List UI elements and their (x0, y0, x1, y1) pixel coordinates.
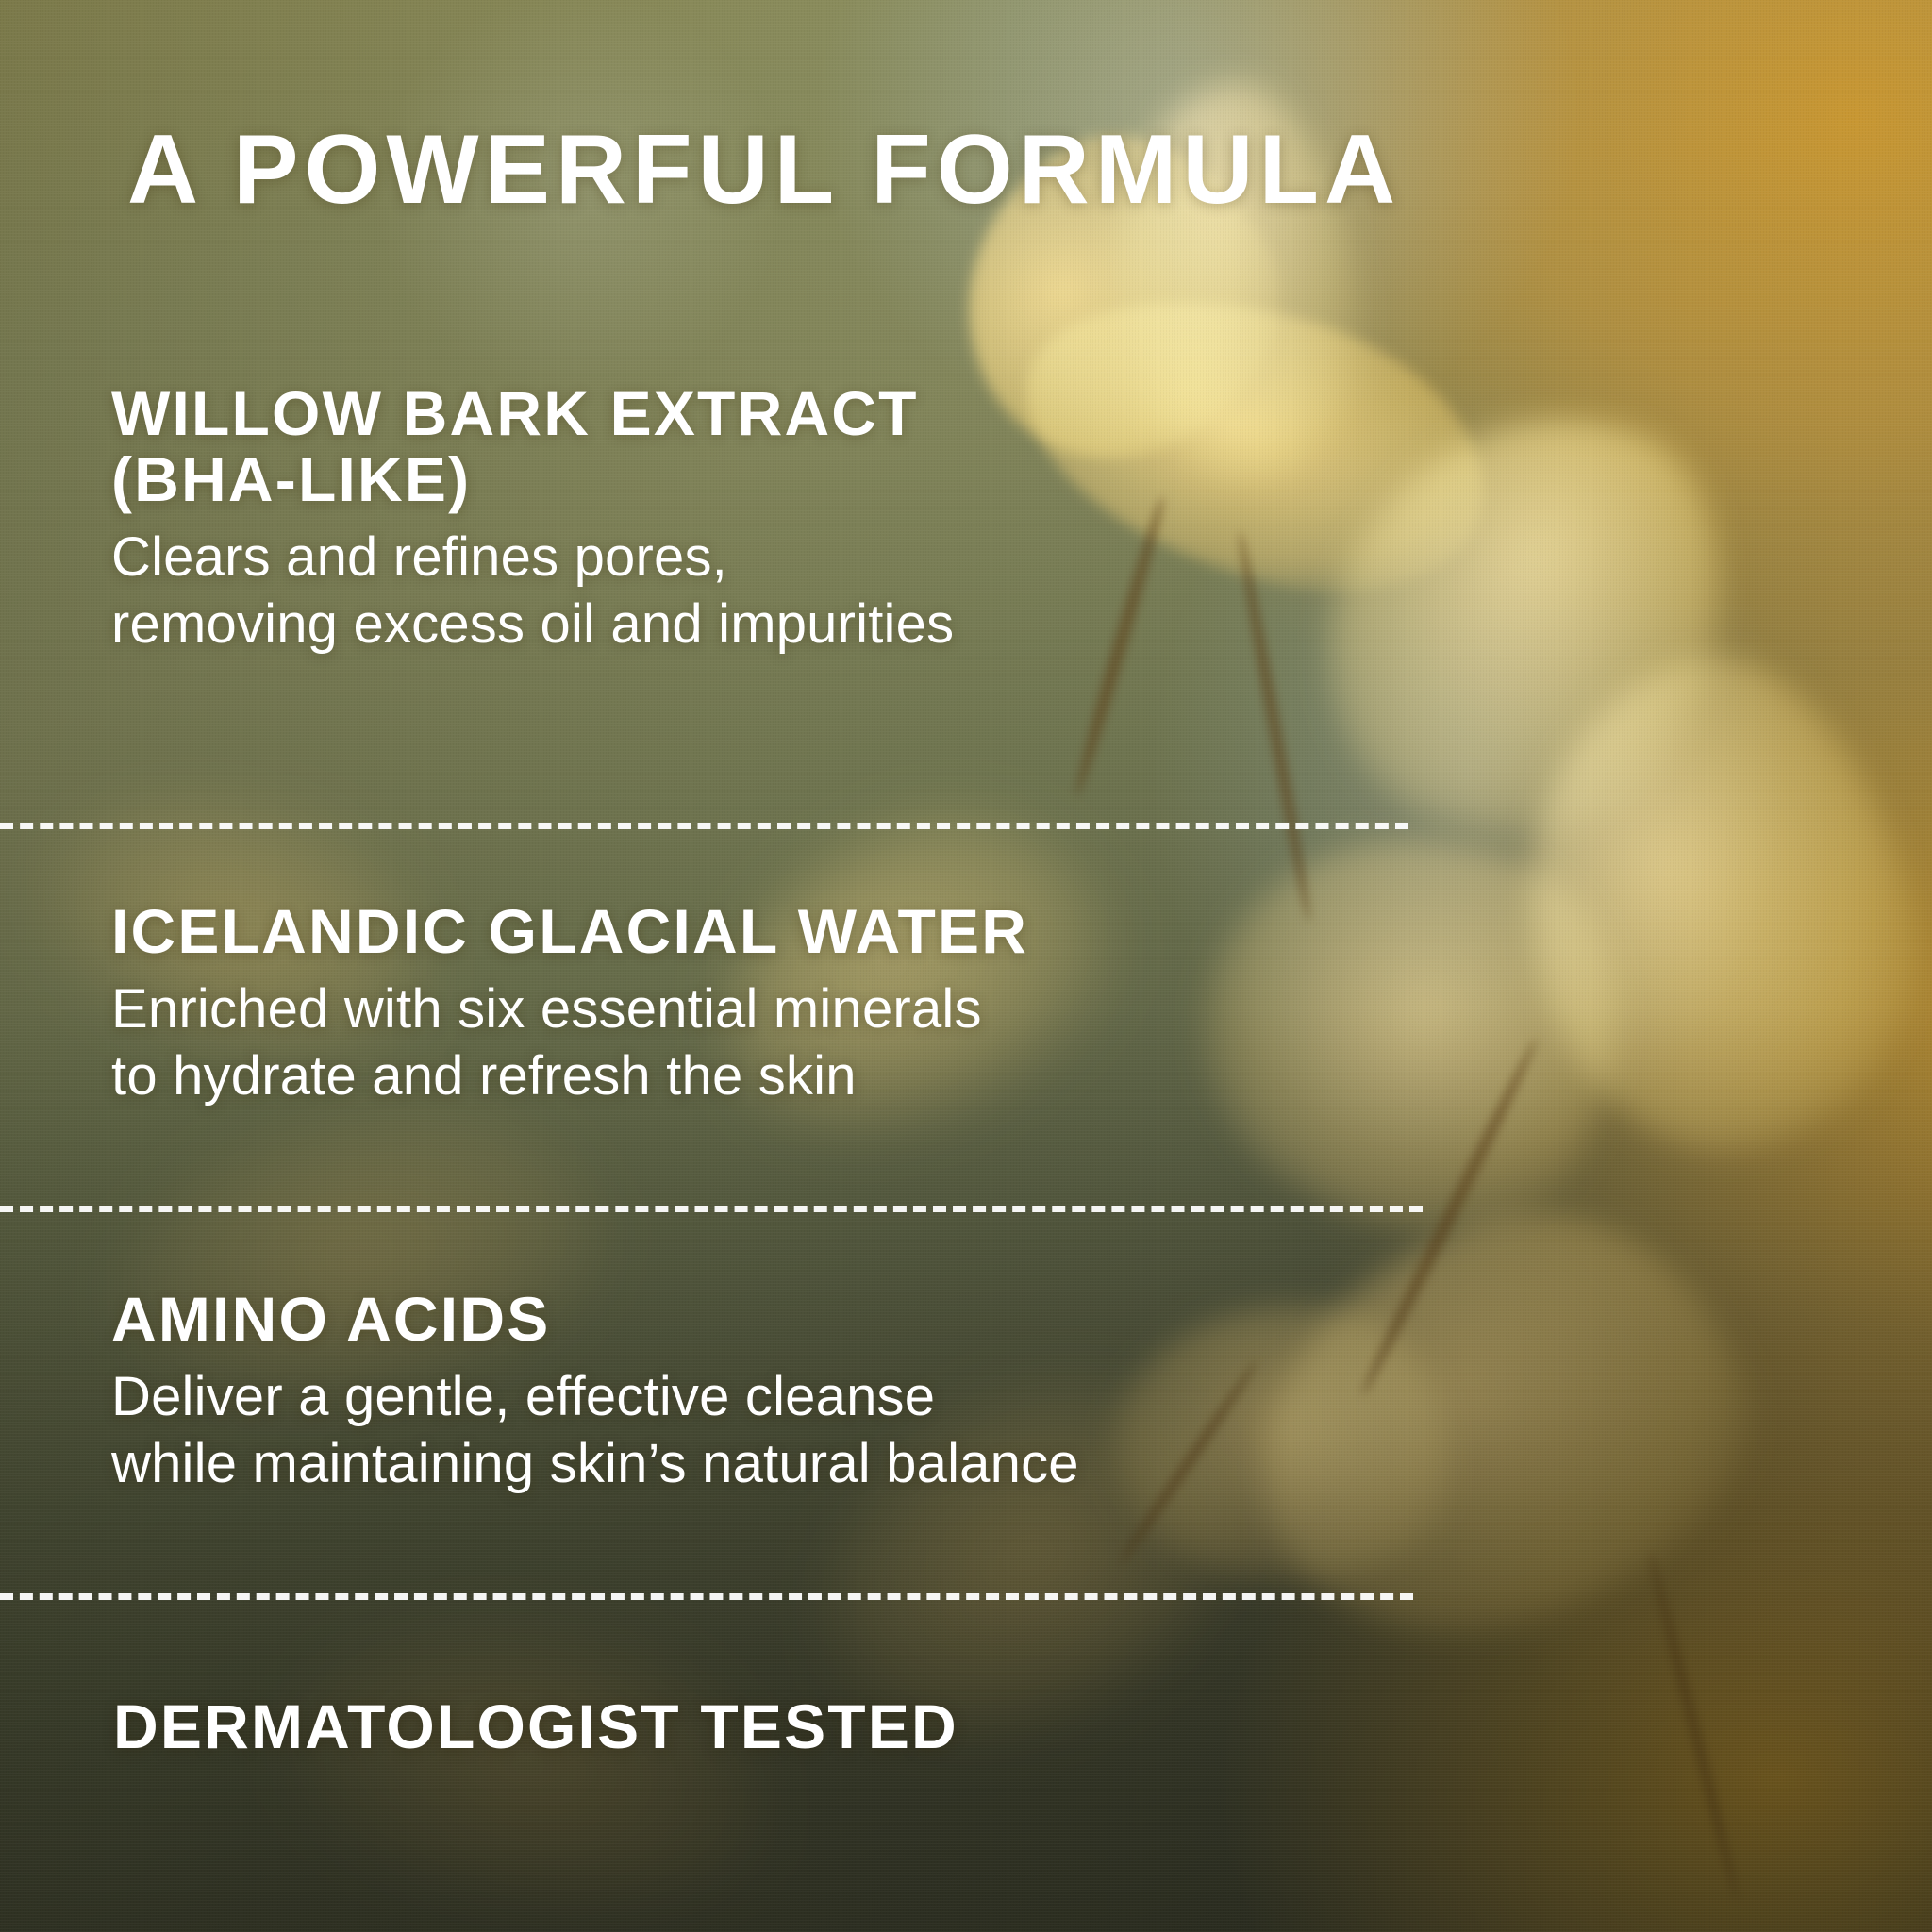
section-heading-line-1: AMINO ACIDS (111, 1284, 550, 1354)
ingredient-section-icelandic-glacial-water: ICELANDIC GLACIAL WATER Enriched with si… (111, 899, 1932, 1109)
section-body: Enriched with six essential minerals to … (111, 976, 1932, 1110)
section-heading: AMINO ACIDS (111, 1287, 1932, 1353)
section-body: Clears and refines pores, removing exces… (111, 525, 1932, 658)
dermatologist-tested-claim: DERMATOLOGIST TESTED (113, 1695, 958, 1757)
section-body-line-1: Deliver a gentle, effective cleanse (111, 1364, 1932, 1431)
section-body-line-1: Enriched with six essential minerals (111, 976, 1932, 1043)
section-heading-line-1: WILLOW BARK EXTRACT (111, 378, 919, 448)
section-divider (0, 823, 1408, 829)
ingredient-section-willow-bark: WILLOW BARK EXTRACT (BHA-LIKE) Clears an… (111, 381, 1932, 658)
section-heading-line-2: (BHA-LIKE) (111, 447, 1932, 513)
ingredient-section-amino-acids: AMINO ACIDS Deliver a gentle, effective … (111, 1287, 1932, 1497)
section-body-line-2: while maintaining skin’s natural balance (111, 1431, 1932, 1498)
section-heading: WILLOW BARK EXTRACT (BHA-LIKE) (111, 381, 1932, 513)
marketing-infographic: A POWERFUL FORMULA WILLOW BARK EXTRACT (… (0, 0, 1932, 1932)
section-body-line-2: removing excess oil and impurities (111, 591, 1932, 658)
section-heading: ICELANDIC GLACIAL WATER (111, 899, 1932, 965)
section-body-line-2: to hydrate and refresh the skin (111, 1043, 1932, 1110)
section-divider (0, 1206, 1423, 1212)
page-title: A POWERFUL FORMULA (127, 121, 1401, 219)
section-body: Deliver a gentle, effective cleanse whil… (111, 1364, 1932, 1498)
content-overlay: A POWERFUL FORMULA WILLOW BARK EXTRACT (… (0, 0, 1932, 1932)
section-heading-line-1: ICELANDIC GLACIAL WATER (111, 896, 1028, 966)
section-body-line-1: Clears and refines pores, (111, 525, 1932, 591)
section-divider (0, 1593, 1413, 1600)
